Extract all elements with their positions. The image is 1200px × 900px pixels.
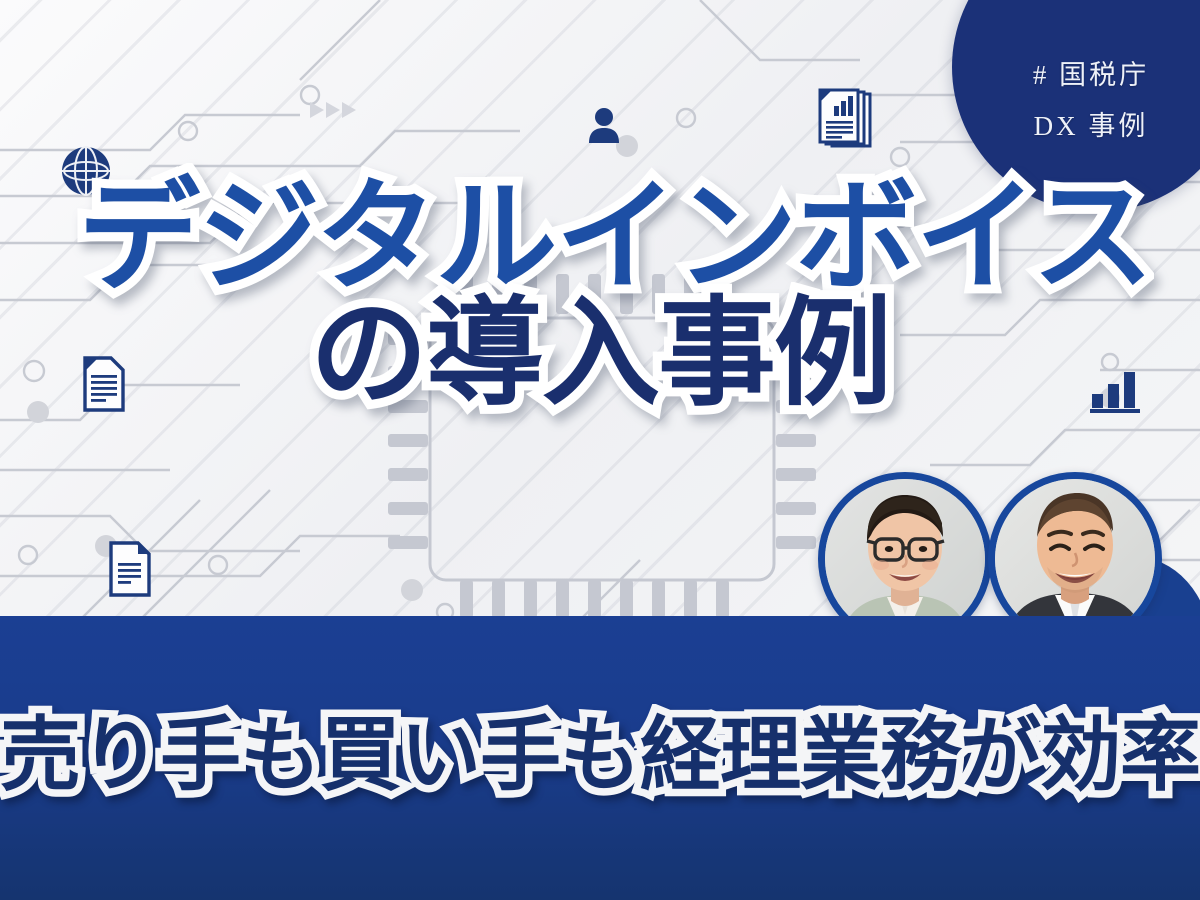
badge-line-2: DX 事例 — [1034, 104, 1149, 143]
badge-line-1: # 国税庁 — [1033, 53, 1149, 92]
title-line-1-row: デジタルインボイス — [0, 176, 1200, 298]
title-line-2: の導入事例 — [310, 294, 890, 412]
user-icon — [588, 107, 620, 143]
document-icon-lower — [108, 540, 152, 598]
title-line-2-row: の導入事例 — [0, 294, 1200, 412]
document-stack-icon — [818, 88, 874, 152]
poster-canvas: # 国税庁 DX 事例 デジタルインボイス の導入事例 — [0, 0, 1200, 900]
banner-tagline: 売り手も買い手も経理業務が効率化！ — [0, 716, 1200, 797]
page-title: デジタルインボイス の導入事例 — [0, 176, 1200, 412]
arrows-icon — [310, 100, 358, 120]
banner-text-wrap: 売り手も買い手も経理業務が効率化！ — [0, 716, 1200, 797]
title-line-1: デジタルインボイス — [78, 176, 1152, 298]
